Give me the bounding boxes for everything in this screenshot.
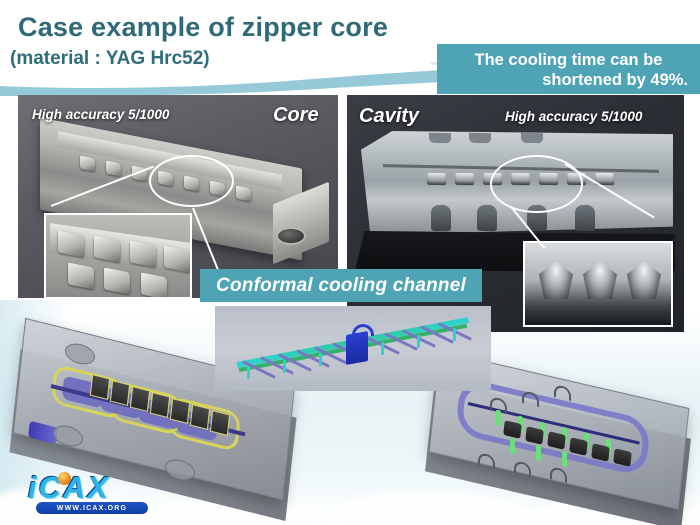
core-inset-tooth — [104, 267, 130, 294]
cavity-ejector-pin — [536, 444, 541, 461]
core-insert — [170, 398, 190, 424]
cavity-slot — [477, 205, 497, 231]
page-title: Case example of zipper core — [18, 12, 388, 43]
core-inset-tooth — [68, 262, 94, 289]
channel-riser — [453, 328, 456, 341]
cavity-ejector-pin — [510, 437, 515, 454]
core-title-label: Core — [273, 104, 319, 127]
cavity-inset-impression — [583, 261, 617, 299]
cavity-mould-render — [418, 368, 700, 525]
channel-riser — [381, 342, 384, 355]
cavity-ejector-pin — [496, 409, 501, 426]
callout-line-1: The cooling time can be — [443, 50, 694, 70]
channel-riser — [247, 366, 250, 379]
core-zoom-inset — [44, 213, 192, 298]
cavity-inset-impression — [539, 261, 573, 299]
channel-riser — [417, 335, 420, 348]
core-inset-tooth — [141, 272, 167, 298]
cavity-top-notch — [429, 133, 451, 143]
cavity-tooth — [455, 173, 474, 185]
cavity-slot — [575, 205, 595, 231]
cavity-ejector-pin — [562, 450, 567, 467]
core-bore-hole — [276, 227, 306, 245]
core-insert — [190, 404, 210, 430]
core-insert — [210, 410, 230, 436]
core-insert — [110, 380, 130, 406]
channel-inlet-manifold — [346, 331, 368, 365]
channel-riser — [319, 353, 322, 366]
core-tooth — [80, 156, 95, 172]
core-insert — [150, 392, 170, 418]
cavity-top-notch — [521, 133, 543, 143]
slide-canvas: Case example of zipper core (material : … — [0, 0, 700, 525]
cavity-slot — [431, 205, 451, 231]
icax-dot-icon — [58, 472, 71, 485]
core-accuracy-label: High accuracy 5/1000 — [32, 107, 169, 122]
icax-logo[interactable]: iCAX WWW.ICAX.ORG — [22, 470, 156, 518]
cavity-slot — [527, 205, 547, 231]
core-tooth — [210, 181, 225, 197]
channel-riser — [283, 360, 286, 373]
page-subtitle: (material : YAG Hrc52) — [10, 48, 210, 70]
core-tooth — [236, 186, 251, 202]
cavity-tooth — [539, 173, 558, 185]
cavity-zoom-inset — [523, 241, 673, 327]
core-tooth — [158, 171, 173, 187]
cavity-top-notch — [469, 133, 491, 143]
cavity-title-label: Cavity — [359, 105, 419, 128]
core-tooth — [184, 176, 199, 192]
callout-line-2: shortened by 49%. — [443, 70, 694, 90]
cavity-tooth — [511, 173, 530, 185]
core-tooth — [106, 161, 121, 177]
cavity-inset-impression — [627, 261, 661, 299]
cavity-tooth — [427, 173, 446, 185]
core-insert — [130, 386, 150, 412]
core-photo: High accuracy 5/1000 Core — [18, 95, 338, 298]
cavity-tooth — [483, 173, 502, 185]
icax-url-label: WWW.ICAX.ORG — [36, 502, 148, 514]
core-insert — [90, 374, 110, 400]
channel-inlet-hook — [352, 324, 374, 336]
cooling-time-callout: The cooling time can be shortened by 49%… — [437, 44, 700, 94]
conformal-cooling-label: Conformal cooling channel — [200, 269, 482, 302]
cavity-accuracy-label: High accuracy 5/1000 — [505, 109, 642, 124]
cooling-channel-render — [215, 306, 491, 391]
